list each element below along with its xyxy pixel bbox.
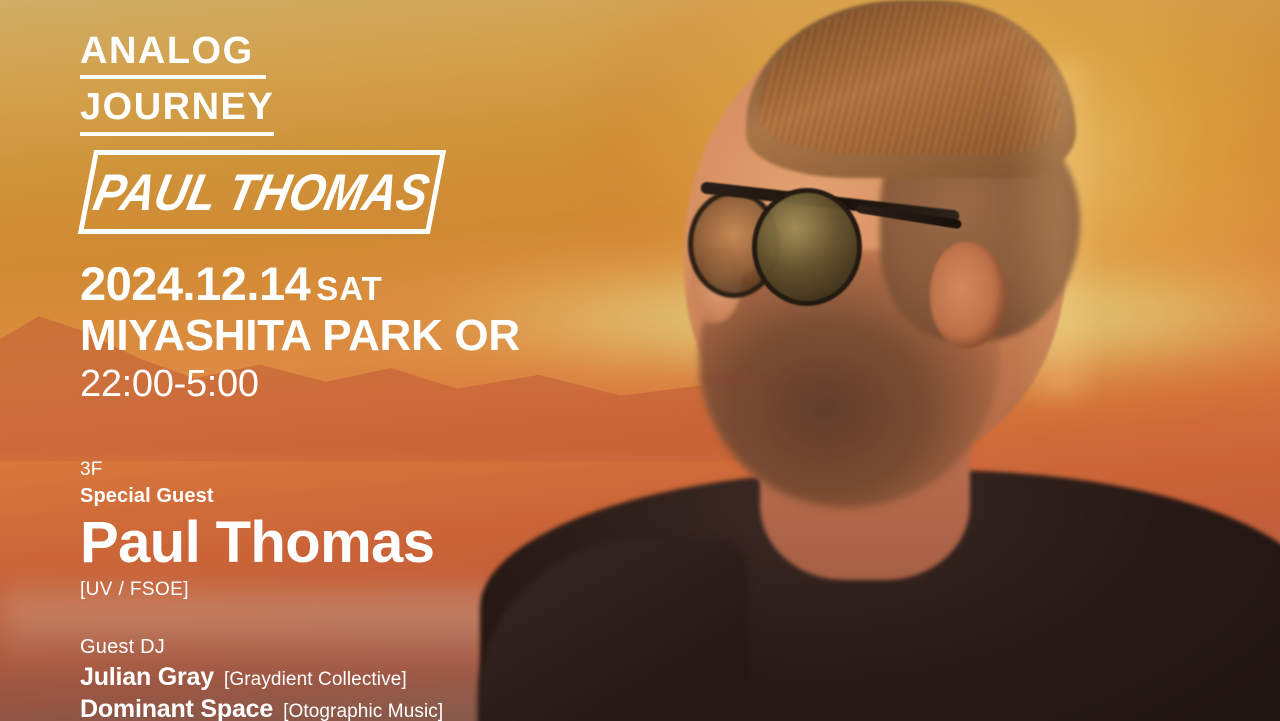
- artist-name-badge-label: PAUL THOMAS: [89, 162, 435, 222]
- floor-label: 3F: [80, 458, 434, 483]
- guest-dj-row: Julian Gray [Graydient Collective]: [80, 661, 443, 693]
- guest-dj-row: Dominant Space [Otographic Music]: [80, 693, 443, 721]
- event-date-line: 2024.12.14SAT: [80, 258, 520, 310]
- event-poster: ANALOG JOURNEY PAUL THOMAS 2024.12.14SAT…: [0, 0, 1280, 721]
- guest-dj-block: Guest DJ Julian Gray [Graydient Collecti…: [80, 634, 443, 721]
- event-date: 2024.12.14: [80, 257, 310, 310]
- artist-name-badge: PAUL THOMAS: [78, 150, 446, 234]
- guest-dj-role: Guest DJ: [80, 634, 443, 661]
- headliner-role: Special Guest: [80, 483, 434, 510]
- guest-dj-label: [Graydient Collective]: [224, 668, 407, 692]
- series-title-line-2: JOURNEY: [80, 84, 274, 135]
- headliner-labels: [UV / FSOE]: [80, 578, 434, 603]
- headliner-name: Paul Thomas: [80, 512, 434, 575]
- event-venue: MIYASHITA PARK OR: [80, 310, 520, 361]
- guest-dj-label: [Otographic Music]: [283, 700, 443, 721]
- headliner-block: 3F Special Guest Paul Thomas [UV / FSOE]: [80, 458, 434, 603]
- poster-text-layer: ANALOG JOURNEY PAUL THOMAS 2024.12.14SAT…: [0, 0, 1280, 721]
- guest-dj-name: Dominant Space: [80, 693, 273, 721]
- guest-dj-name: Julian Gray: [80, 661, 214, 693]
- series-title-line-1: ANALOG: [80, 28, 266, 79]
- event-day-of-week: SAT: [316, 270, 383, 307]
- event-details: 2024.12.14SAT MIYASHITA PARK OR 22:00-5:…: [80, 258, 520, 407]
- event-time: 22:00-5:00: [80, 361, 520, 407]
- event-series-title: ANALOG JOURNEY: [80, 28, 274, 136]
